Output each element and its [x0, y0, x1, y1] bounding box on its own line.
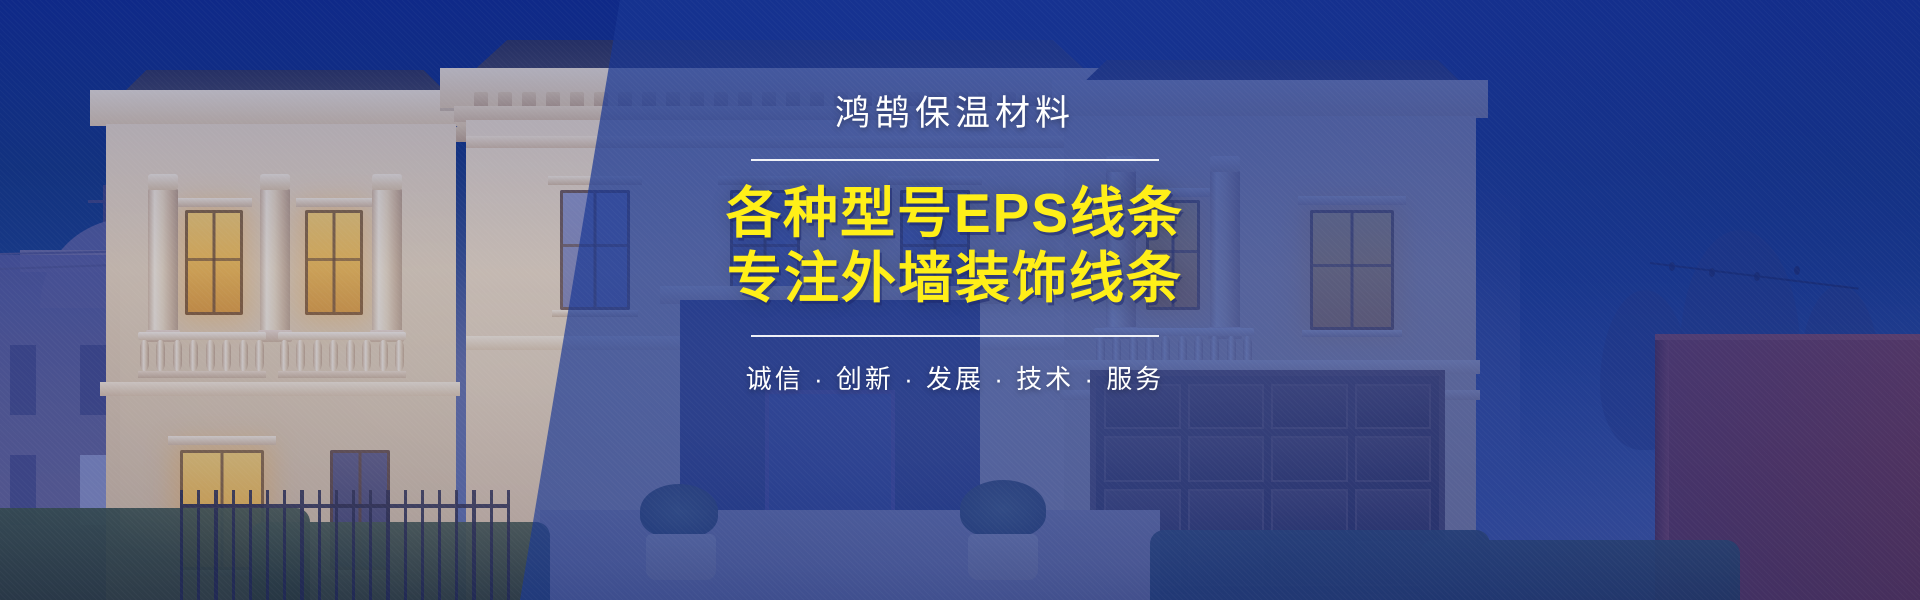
- front-terrace: [540, 510, 1160, 600]
- headline-line-2: 专注外墙装饰线条: [575, 246, 1335, 311]
- headline: 各种型号EPS线条 专注外墙装饰线条: [575, 181, 1335, 311]
- banner-content: 鸿鹄保温材料 各种型号EPS线条 专注外墙装饰线条 诚信 · 创新 · 发展 ·…: [575, 96, 1335, 396]
- divider-bottom: [751, 335, 1159, 337]
- hero-banner: 鸿鹄保温材料 各种型号EPS线条 专注外墙装饰线条 诚信 · 创新 · 发展 ·…: [0, 0, 1920, 600]
- tagline: 诚信 · 创新 · 发展 · 技术 · 服务: [575, 359, 1335, 396]
- headline-line-1: 各种型号EPS线条: [575, 181, 1335, 246]
- brand-name: 鸿鹄保温材料: [575, 96, 1335, 131]
- divider-top: [751, 159, 1159, 161]
